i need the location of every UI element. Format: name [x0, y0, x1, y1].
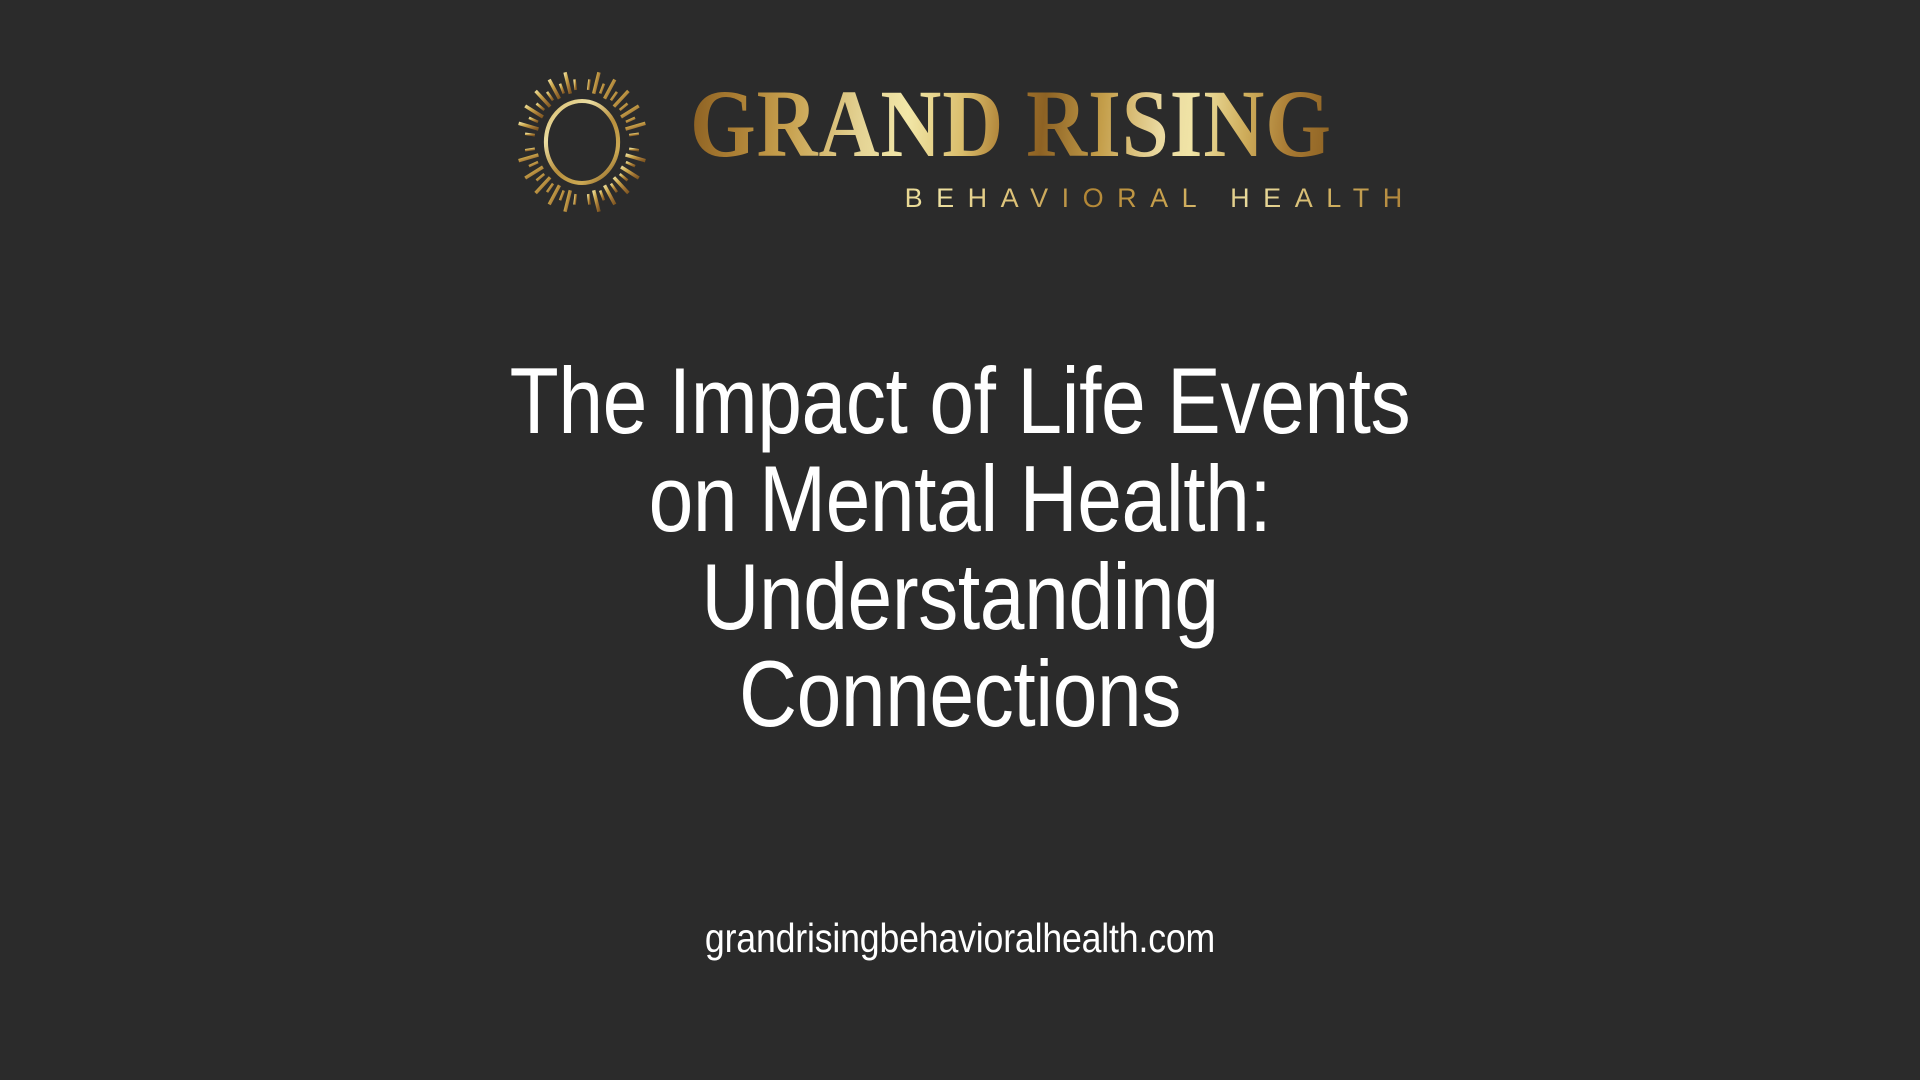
brand-tagline: BEHAVIORAL HEALTH: [690, 183, 1419, 214]
title-line-2: on Mental Health:: [276, 450, 1644, 548]
brand-lockup: GRAND RISING BEHAVIORAL HEALTH: [500, 56, 1419, 224]
title-line-3: Understanding: [276, 548, 1644, 646]
brand-header: GRAND RISING BEHAVIORAL HEALTH: [0, 56, 1920, 224]
brand-wordmark: GRAND RISING: [690, 78, 1332, 169]
presentation-slide: GRAND RISING BEHAVIORAL HEALTH The Impac…: [0, 0, 1920, 1080]
title-line-1: The Impact of Life Events: [276, 352, 1644, 450]
sun-rays: [517, 70, 648, 214]
page-title: The Impact of Life Events on Mental Heal…: [0, 352, 1920, 743]
title-line-4: Connections: [276, 645, 1644, 743]
sun-ring: [546, 101, 618, 183]
wordmark-block: GRAND RISING BEHAVIORAL HEALTH: [690, 56, 1419, 214]
sun-logo-icon: [500, 60, 664, 224]
website-url[interactable]: grandrisingbehavioralhealth.com: [125, 915, 1795, 962]
